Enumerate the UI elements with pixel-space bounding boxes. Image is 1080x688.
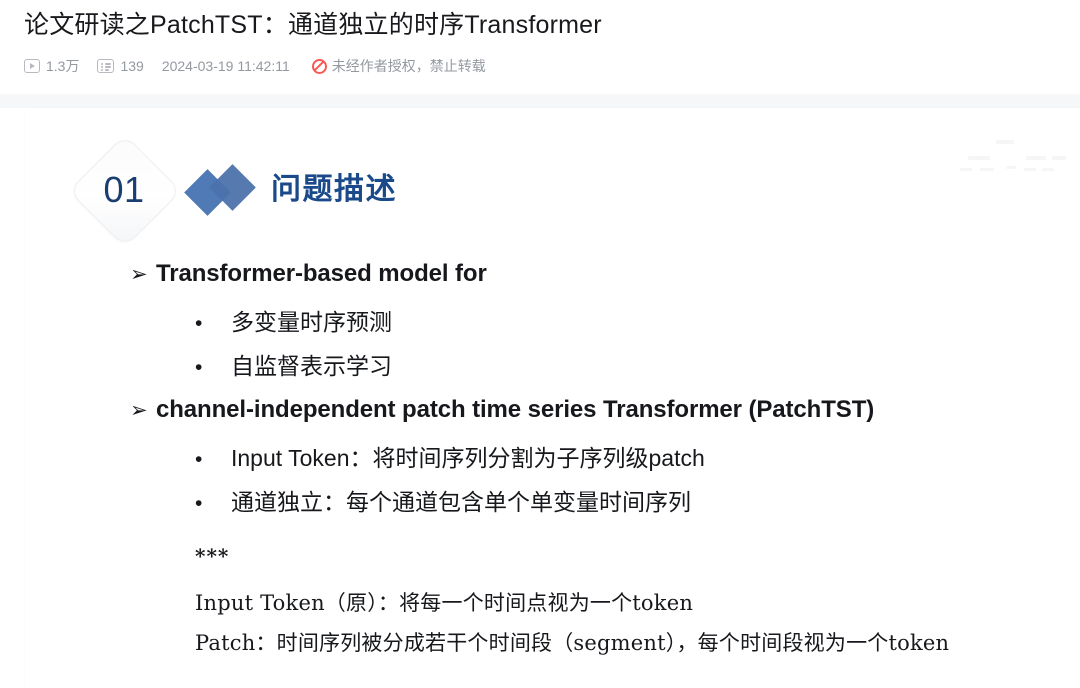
publish-date: 2024-03-19 11:42:11 [162,58,290,74]
dot-bullet-icon: • [195,489,231,519]
watermark [952,136,1062,184]
slide-section-header: 01 问题描述 [63,138,463,248]
bullet-text: Input Token：将时间序列分割为子序列级patch [231,442,705,474]
view-count: 1.3万 [24,57,79,75]
danmaku-count: 139 [97,57,143,75]
article-page: 论文研读之PatchTST：通道独立的时序Transformer 1.3万 13… [0,0,1080,688]
dot-bullet-icon: • [195,353,231,383]
bullet-item-level1: ➢ Transformer-based model for [25,258,1080,300]
note-separator: *** [195,543,1075,569]
bullet-item-level2: • Input Token：将时间序列分割为子序列级patch [25,442,1080,486]
dot-bullet-icon: • [195,445,231,475]
bullet-text: 自监督表示学习 [231,350,392,382]
section-title: 问题描述 [271,170,397,210]
article-content-card: 01 问题描述 ➢ Transformer-based model for • … [25,108,1080,688]
arrow-bullet-icon: ➢ [130,396,156,426]
copyright-label: 未经作者授权，禁止转载 [332,56,486,76]
bullet-text: 通道独立：每个通道包含单个单变量时间序列 [231,486,691,518]
note-line: Patch：时间序列被分成若干个时间段（segment），每个时间段视为一个to… [195,623,1075,663]
page-title: 论文研读之PatchTST：通道独立的时序Transformer [24,8,602,42]
no-entry-icon [312,59,327,74]
article-meta-row: 1.3万 139 2024-03-19 11:42:11 未经作者授权，禁止转载 [24,54,486,78]
slide-note-block: *** Input Token（原）：将每一个时间点视为一个token Patc… [195,543,1075,663]
bullet-item-level1: ➢ channel-independent patch time series … [25,394,1080,436]
copyright-notice: 未经作者授权，禁止转载 [312,56,486,76]
danmaku-count-label: 139 [120,57,143,75]
slide-bullet-list: ➢ Transformer-based model for • 多变量时序预测 … [25,258,1080,530]
dot-bullet-icon: • [195,309,231,339]
danmaku-icon [97,59,114,73]
slide-image: 01 问题描述 ➢ Transformer-based model for • … [25,108,1080,688]
note-line: Input Token（原）：将每一个时间点视为一个token [195,583,1075,623]
bullet-text: 多变量时序预测 [231,306,392,338]
section-number-label: 01 [85,151,163,229]
play-icon [24,59,40,73]
bullet-text: Transformer-based model for [156,258,487,290]
bullet-text: channel-independent patch time series Tr… [156,394,874,426]
view-count-label: 1.3万 [46,57,79,75]
bullet-item-level2: • 自监督表示学习 [25,350,1080,394]
bullet-item-level2: • 多变量时序预测 [25,306,1080,350]
arrow-bullet-icon: ➢ [130,260,156,290]
diamond-decoration-icon [191,170,265,214]
bullet-item-level2: • 通道独立：每个通道包含单个单变量时间序列 [25,486,1080,530]
header-divider-band [0,94,1080,108]
